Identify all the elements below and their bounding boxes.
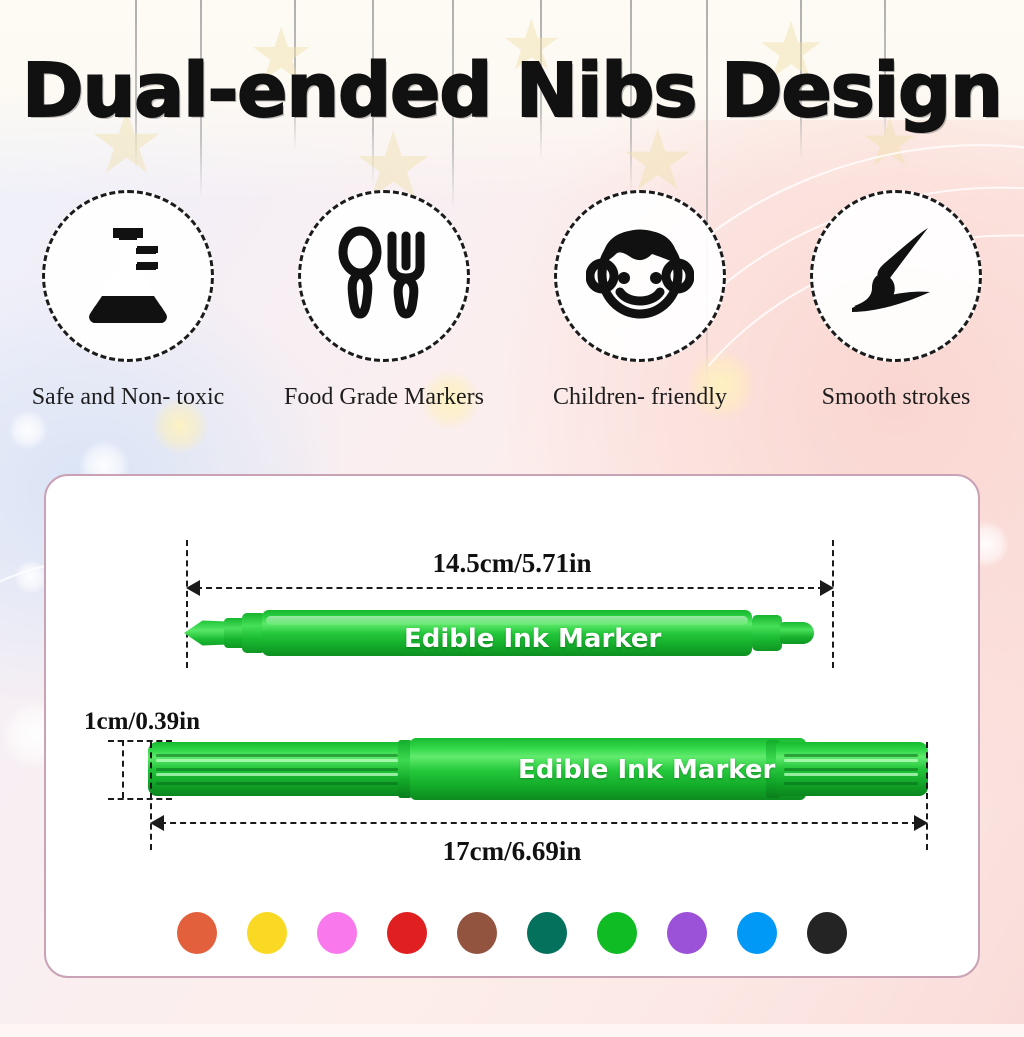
flask-icon [80,222,176,331]
feature-item-smooth-strokes: Smooth strokes [782,190,1010,411]
cap-rib-highlight [156,773,398,776]
color-swatch-orange[interactable] [177,912,217,954]
feature-icon-circle [42,190,214,362]
feature-item-safe-non-toxic: Safe and Non- toxic [14,190,242,411]
marker-collar [752,615,782,651]
feature-label: Smooth strokes [822,384,971,411]
cap-rib-highlight [784,759,918,762]
feature-icon-circle [810,190,982,362]
cap-rib [156,754,398,757]
child-face-icon [586,224,694,329]
feature-label: Children- friendly [553,384,727,411]
marker-brush-tip [184,620,228,646]
marker-cap-left [148,742,416,796]
color-swatch-pink[interactable] [317,912,357,954]
color-swatch-black[interactable] [807,912,847,954]
marker-body-text: Edible Ink Marker [404,624,661,654]
top-dim-arrow [186,587,834,589]
color-swatch-row [0,912,1024,954]
bottom-dim-guide-right [926,742,928,850]
dual-ended-marker-uncapped: Edible Ink Marker [186,604,834,662]
infographic-page: Dual-ended Nibs Design Safe and Non- [0,0,1024,1024]
top-marker-length-label: 14.5cm/5.71in [0,548,1024,579]
bottom-dim-guide-left [150,742,152,850]
feature-item-children-friendly: Children- friendly [526,190,754,411]
page-title: Dual-ended Nibs Design [0,48,1024,134]
cap-rib [784,768,918,771]
arrow-shaft [160,822,918,824]
feature-label: Food Grade Markers [284,384,484,411]
color-swatch-red[interactable] [387,912,427,954]
color-swatch-yellow[interactable] [247,912,287,954]
height-guide-left [122,740,124,798]
color-swatch-purple[interactable] [667,912,707,954]
arrow-shaft [196,587,824,589]
feature-icon-circle [298,190,470,362]
color-swatch-dark-green[interactable] [527,912,567,954]
cap-rib [156,768,398,771]
bottom-marker-height-label: 1cm/0.39in [84,708,200,736]
feature-row: Safe and Non- toxic [0,190,1024,411]
cap-rib-highlight [784,773,918,776]
arrow-head-right [914,815,928,831]
dual-ended-marker-capped: Edible Ink Marker [148,734,928,804]
marker-cap-right [776,742,928,796]
color-swatch-blue[interactable] [737,912,777,954]
paintbrush-icon [842,222,950,331]
feature-label: Safe and Non- toxic [32,384,225,411]
feature-item-food-grade: Food Grade Markers [270,190,498,411]
cap-rib [784,782,918,785]
color-swatch-brown[interactable] [457,912,497,954]
color-swatch-green[interactable] [597,912,637,954]
bottom-marker-length-label: 17cm/6.69in [0,836,1024,867]
cap-rib [156,782,398,785]
cap-rib [784,754,918,757]
feature-icon-circle [554,190,726,362]
bottom-dim-arrow [150,822,928,824]
cutlery-icon [332,222,436,331]
marker-body-text: Edible Ink Marker [518,755,775,785]
cap-rib-highlight [156,759,398,762]
marker-fine-tip [780,622,814,644]
arrow-head-right [820,580,834,596]
